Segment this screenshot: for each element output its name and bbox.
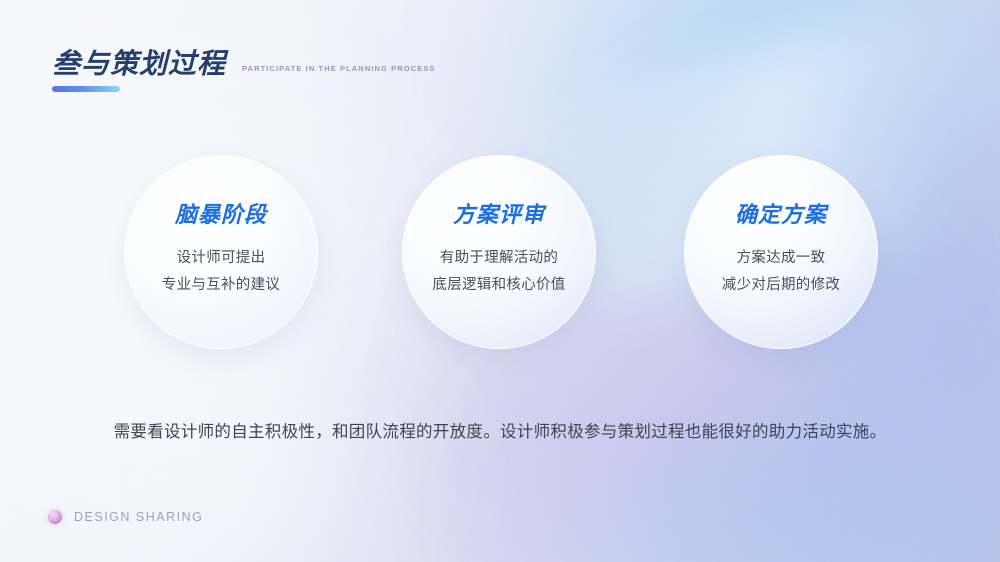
circle-card-2-heading: 方案评审 [453,205,545,227]
circle-card-2-line-2: 底层逻辑和核心价值 [432,272,565,299]
footer-label: DESIGN SHARING [74,510,203,524]
circle-card-2-line-1: 有助于理解活动的 [440,245,558,272]
slide-canvas: 叁与策划过程 PARTICIPATE IN THE PLANNING PROCE… [0,0,1000,562]
title-underline-bar [52,86,120,92]
circle-card-1-heading: 脑暴阶段 [175,205,267,227]
circle-card-3: 确定方案 方案达成一致 减少对后期的修改 [684,155,878,349]
circle-card-1-line-2: 专业与互补的建议 [162,272,280,299]
circle-card-1: 脑暴阶段 设计师可提出 专业与互补的建议 [124,155,318,349]
slide-header: 叁与策划过程 PARTICIPATE IN THE PLANNING PROCE… [52,50,436,78]
circle-card-1-line-1: 设计师可提出 [177,245,266,272]
circle-card-3-line-2: 减少对后期的修改 [722,272,840,299]
circle-card-3-heading: 确定方案 [735,205,827,227]
circle-card-2: 方案评审 有助于理解活动的 底层逻辑和核心价值 [402,155,596,349]
circle-card-row: 脑暴阶段 设计师可提出 专业与互补的建议 方案评审 有助于理解活动的 底层逻辑和… [0,155,1000,350]
summary-paragraph: 需要看设计师的自主积极性，和团队流程的开放度。设计师积极参与策划过程也能很好的助… [0,420,1000,445]
circle-card-3-line-1: 方案达成一致 [737,245,826,272]
page-subtitle: PARTICIPATE IN THE PLANNING PROCESS [242,64,436,73]
page-title: 叁与策划过程 [52,50,226,78]
sphere-icon [48,510,62,524]
slide-footer: DESIGN SHARING [48,510,203,524]
